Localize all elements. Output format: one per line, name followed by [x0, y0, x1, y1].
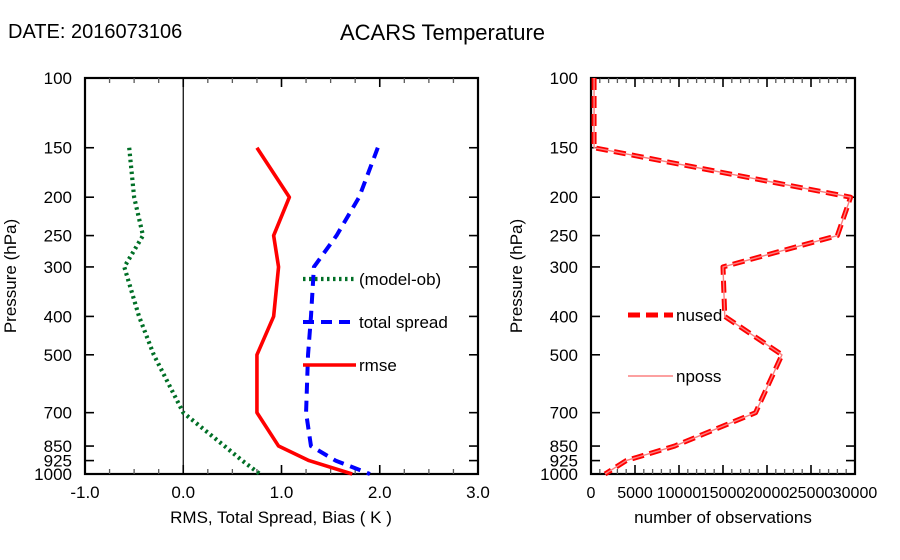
right-panel: 0500010000150002000025000300001001502002… — [507, 69, 877, 527]
y-tick-label: 200 — [44, 188, 72, 207]
left-x-axis-title: RMS, Total Spread, Bias ( K ) — [170, 508, 392, 527]
legend-label: total spread — [359, 313, 448, 332]
series-line-nused — [594, 78, 851, 474]
x-tick-label: 15000 — [701, 485, 746, 502]
x-tick-label: 5000 — [617, 485, 653, 502]
series-line--model-ob- — [124, 148, 260, 474]
y-tick-label: 300 — [44, 258, 72, 277]
right-x-axis-title: number of observations — [634, 508, 812, 527]
y-tick-label: 250 — [550, 227, 578, 246]
y-tick-label: 100 — [550, 69, 578, 88]
x-tick-label: 25000 — [789, 485, 834, 502]
figure-root: DATE: 2016073106 ACARS Temperature -1.00… — [0, 0, 900, 560]
y-tick-label: 200 — [550, 188, 578, 207]
page-title: ACARS Temperature — [340, 20, 545, 45]
x-tick-label: 2.0 — [368, 483, 392, 502]
series-line-nposs — [594, 78, 851, 474]
right-panel-curves — [594, 78, 851, 474]
y-tick-label: 400 — [550, 307, 578, 326]
y-tick-label: 150 — [44, 139, 72, 158]
y-tick-label: 100 — [44, 69, 72, 88]
left-panel-curves — [124, 148, 377, 474]
x-tick-label: 1.0 — [270, 483, 294, 502]
legend-label: nused — [676, 306, 722, 325]
x-tick-label: 30000 — [833, 485, 878, 502]
series-line-total-spread — [306, 148, 378, 474]
y-tick-label: 1000 — [540, 465, 578, 484]
x-tick-label: 0.0 — [171, 483, 195, 502]
y-tick-label: 300 — [550, 258, 578, 277]
legend-label: (model-ob) — [359, 270, 441, 289]
right-panel-axes: 0500010000150002000025000300001001502002… — [540, 69, 877, 502]
x-tick-label: -1.0 — [70, 483, 99, 502]
y-tick-label: 500 — [44, 346, 72, 365]
acars-temperature-figure: DATE: 2016073106 ACARS Temperature -1.00… — [0, 0, 900, 560]
x-tick-label: 0 — [587, 485, 596, 502]
left-panel-legend: (model-ob)total spreadrmse — [303, 270, 448, 375]
right-panel-legend: nusednposs — [628, 306, 722, 386]
y-tick-label: 400 — [44, 307, 72, 326]
legend-label: nposs — [676, 367, 721, 386]
left-panel: -1.00.01.02.03.0100150200250300400500700… — [1, 69, 490, 527]
y-tick-label: 250 — [44, 227, 72, 246]
legend-label: rmse — [359, 356, 397, 375]
date-label: DATE: 2016073106 — [8, 21, 182, 43]
y-tick-label: 700 — [44, 404, 72, 423]
left-y-axis-title: Pressure (hPa) — [1, 219, 20, 333]
y-tick-label: 500 — [550, 346, 578, 365]
y-tick-label: 1000 — [34, 465, 72, 484]
y-tick-label: 150 — [550, 139, 578, 158]
x-tick-label: 3.0 — [466, 483, 490, 502]
x-tick-label: 10000 — [657, 485, 702, 502]
right-y-axis-title: Pressure (hPa) — [507, 219, 526, 333]
series-line-rmse — [257, 148, 352, 474]
x-tick-label: 20000 — [745, 485, 790, 502]
y-tick-label: 700 — [550, 404, 578, 423]
